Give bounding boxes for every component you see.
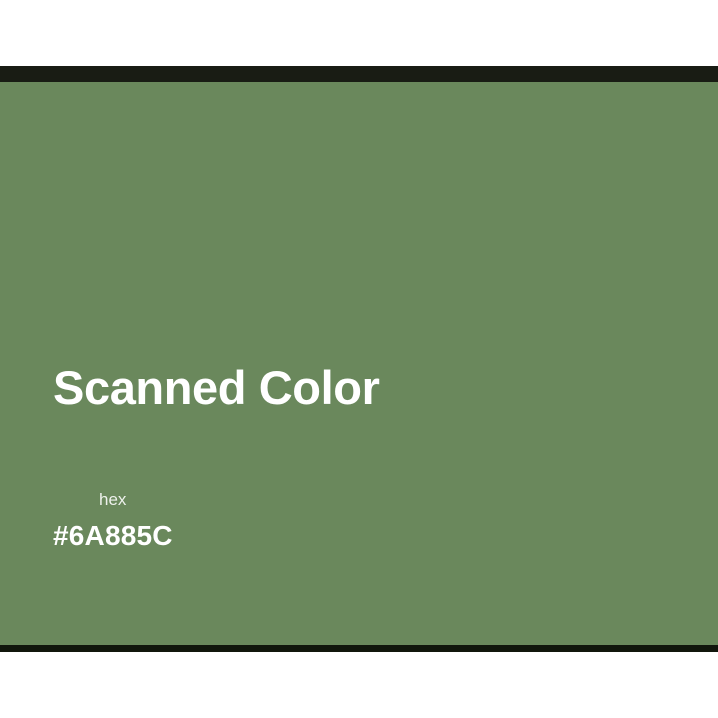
letterbox-top bbox=[0, 0, 718, 66]
hex-value[interactable]: #6A885C bbox=[53, 522, 173, 550]
letterbox-bottom bbox=[0, 652, 718, 718]
scanned-color-screen: Scanned Color hex #6A885C bbox=[0, 0, 718, 718]
viewport-bottom-bar bbox=[0, 645, 718, 652]
page-title: Scanned Color bbox=[53, 364, 379, 411]
hex-label: hex bbox=[99, 491, 126, 508]
scanned-color-swatch: Scanned Color hex #6A885C bbox=[0, 82, 718, 645]
viewport-top-bar bbox=[0, 66, 718, 82]
